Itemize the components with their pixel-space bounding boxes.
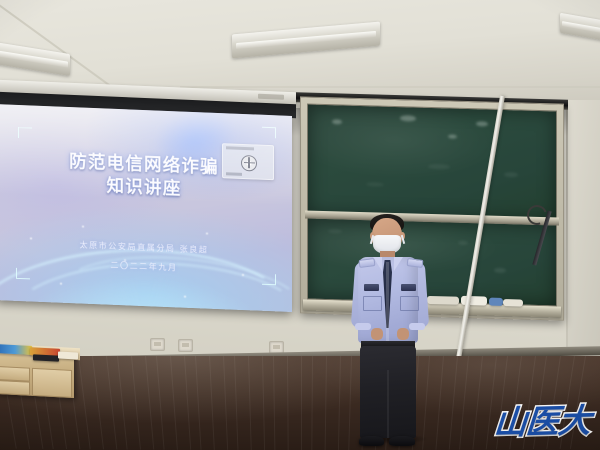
right-wall (568, 100, 600, 362)
photo-scene: 防范电信网络诈骗 知识讲座 太原市公安局直属分局 张良超 二〇二二年九月 (0, 0, 600, 450)
floor-plank-line (472, 356, 483, 450)
floor-plank-line (209, 356, 215, 450)
ceiling-seam (180, 86, 600, 88)
floor-plank-line (184, 356, 191, 450)
floor-plank-line (301, 356, 302, 450)
floor-plank-line (287, 356, 289, 450)
floor-plank-line (459, 356, 469, 450)
watermark: 山医大 (493, 404, 592, 440)
floor-plank-line (170, 356, 178, 450)
uniform-badge-right (401, 284, 416, 291)
shoe-right (389, 436, 415, 446)
chalk-rag (427, 296, 459, 305)
floor-plank-line (106, 356, 117, 450)
slide-corner-bracket (262, 127, 276, 139)
floor-plank-line (131, 356, 141, 450)
blackboard (300, 96, 564, 320)
floor-plank-line (325, 356, 327, 450)
shoe-left (359, 436, 384, 446)
floor-plank-line (117, 356, 128, 450)
floor-plank-line (262, 356, 265, 450)
police-officer (352, 210, 428, 450)
floor-plank-line (145, 356, 154, 450)
floor-plank-line (311, 356, 313, 450)
wall-socket (178, 339, 193, 352)
floor-plank-line (156, 356, 165, 450)
colorful-poster (0, 344, 32, 355)
floor-plank-line (338, 356, 341, 450)
black-device (33, 354, 59, 361)
floor-plank-line (78, 356, 91, 449)
floor-plank-line (223, 356, 228, 450)
projector-screen: 防范电信网络诈骗 知识讲座 太原市公安局直属分局 张良超 二〇二二年九月 (0, 104, 292, 312)
blackboard-lower-panel (307, 218, 557, 307)
wall-corner-line (566, 104, 568, 356)
floor-plank-line (273, 356, 275, 450)
uniform-badge-left (364, 284, 379, 291)
hand-left (371, 328, 383, 340)
floor-plank-line (195, 356, 202, 450)
cuff-left (355, 323, 371, 330)
floor-plank-line (248, 356, 252, 450)
trousers (360, 346, 416, 438)
floor-plank-line (92, 356, 104, 449)
shirt-pocket-right (400, 296, 419, 311)
wall-socket (150, 338, 165, 351)
hand-right (397, 328, 409, 340)
fluorescent-tube-center-icon (232, 22, 380, 59)
cuff-right (409, 323, 425, 330)
fluorescent-tube-right-icon (560, 13, 600, 44)
slide-corner-bracket (18, 127, 32, 139)
blue-box (489, 298, 503, 306)
floor-plank-line (234, 356, 238, 450)
floor-plank-line (449, 356, 458, 450)
shirt-pocket-left (363, 296, 382, 311)
blackboard-upper-panel (307, 104, 557, 223)
shirt-placket (386, 262, 389, 342)
chalk-duster (503, 299, 523, 307)
white-paper (58, 351, 78, 359)
collar-right (394, 257, 403, 271)
